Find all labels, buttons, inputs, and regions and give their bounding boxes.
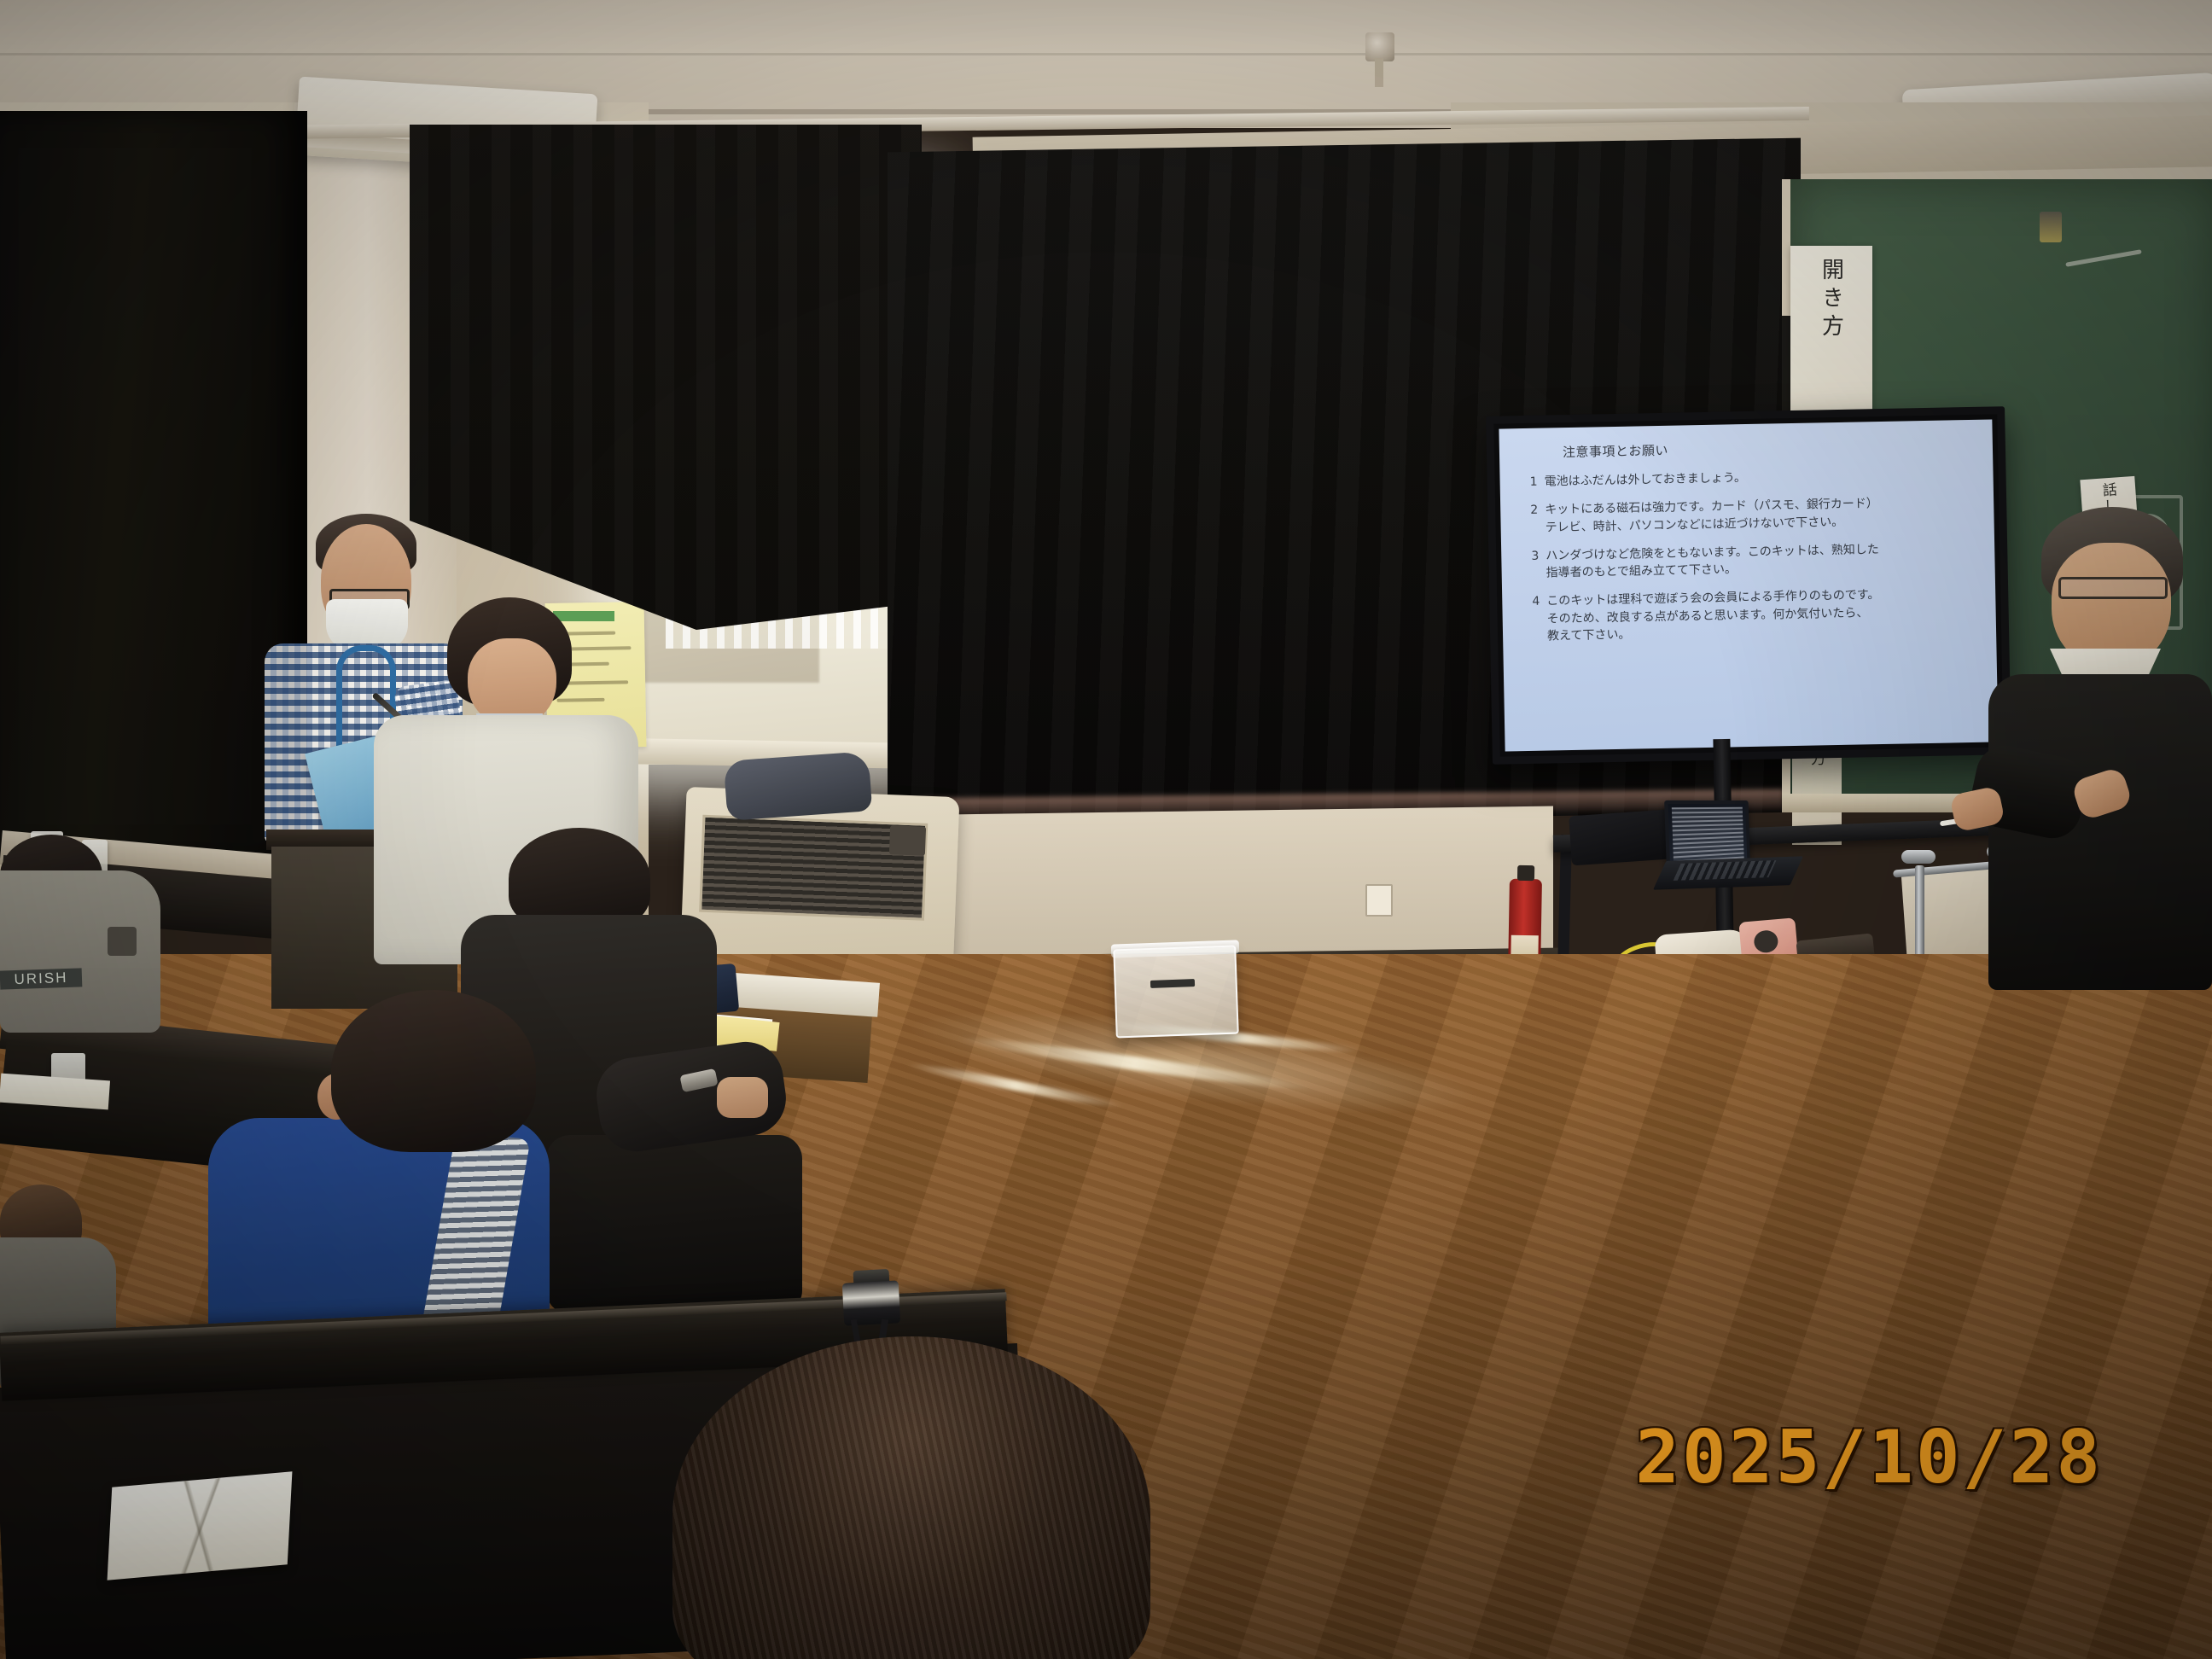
wall-poster-header bbox=[553, 611, 614, 621]
plastic-storage-bin[interactable] bbox=[1113, 946, 1239, 1039]
sweatshirt-patch bbox=[108, 927, 137, 956]
date-stamp: 2025/10/28 bbox=[1635, 1415, 2103, 1500]
slide-bullet: 1 電池はふだんは外しておきましょう。 bbox=[1523, 465, 1977, 492]
presenter-glasses-icon bbox=[2058, 577, 2168, 599]
plastic-bin-handle bbox=[1150, 979, 1195, 988]
face-mask-icon bbox=[326, 599, 408, 650]
camera-icon bbox=[842, 1280, 901, 1325]
slide-bullet: 3 ハンダづけなど危険をともないます。このキットは、熟知した 指導者のもとで組み… bbox=[1525, 539, 1980, 583]
student-blue-jacket-hair bbox=[331, 990, 536, 1152]
slide-bullet-number: 2 bbox=[1524, 502, 1539, 537]
slide-content: 注意事項とお願い 1 電池はふだんは外しておきましょう。 2 キットにある磁石は… bbox=[1499, 419, 1998, 751]
slide-bullet: 4 このキットは理科で遊ぼう会の会員による手作りのものです。 そのため、改良する… bbox=[1526, 585, 1981, 645]
wall-outlet-icon bbox=[1365, 884, 1393, 917]
heater-control-panel[interactable] bbox=[889, 825, 926, 856]
faucet-head[interactable] bbox=[1901, 850, 1935, 864]
sweatshirt-text: URISH bbox=[0, 968, 82, 989]
blackout-curtain-left bbox=[0, 111, 307, 862]
classroom-photo: 開き方 話し方 まとめ方 注意事項とお願い 1 電池はふだんは外しておきましょう… bbox=[0, 0, 2212, 1659]
student-dark-shirt-legs bbox=[546, 1135, 802, 1314]
slide-bullet-text: このキットは理科で遊ぼう会の会員による手作りのものです。 そのため、改良する点が… bbox=[1546, 585, 1981, 645]
ceiling-seam-upper bbox=[0, 53, 2212, 55]
presentation-monitor[interactable]: 注意事項とお願い 1 電池はふだんは外しておきましょう。 2 キットにある磁石は… bbox=[1486, 406, 2011, 765]
folded-jacket bbox=[724, 751, 872, 821]
slide-bullet-text: 電池はふだんは外しておきましょう。 bbox=[1544, 465, 1977, 491]
white-envelope bbox=[108, 1471, 293, 1580]
laptop-keyboard[interactable] bbox=[1674, 860, 1777, 881]
poster-text-line bbox=[556, 698, 604, 702]
slide-bullet-number: 1 bbox=[1523, 474, 1537, 492]
ceiling-sprinkler-icon bbox=[1365, 32, 1394, 61]
chalkboard-poster-main-text: 開き方 bbox=[1816, 258, 1848, 342]
student-dark-shirt-hand bbox=[717, 1077, 768, 1118]
slide-bullet-number: 4 bbox=[1526, 593, 1540, 645]
slide-title: 注意事項とお願い bbox=[1563, 435, 1977, 461]
faucet-post bbox=[1915, 865, 1924, 968]
slide-bullet-text: キットにある磁石は強力です。カード（パスモ、銀行カード） テレビ、時計、パソコン… bbox=[1545, 493, 1979, 536]
board-magnet-clip bbox=[2040, 212, 2062, 242]
slide-bullet-number: 3 bbox=[1525, 548, 1540, 583]
laptop-screen-content bbox=[1672, 807, 1744, 864]
slide-bullet: 2 キットにある磁石は強力です。カード（パスモ、銀行カード） テレビ、時計、パソ… bbox=[1524, 493, 1979, 537]
slide-bullet-text: ハンダづけなど危険をともないます。このキットは、熟知した 指導者のもとで組み立て… bbox=[1545, 539, 1980, 582]
